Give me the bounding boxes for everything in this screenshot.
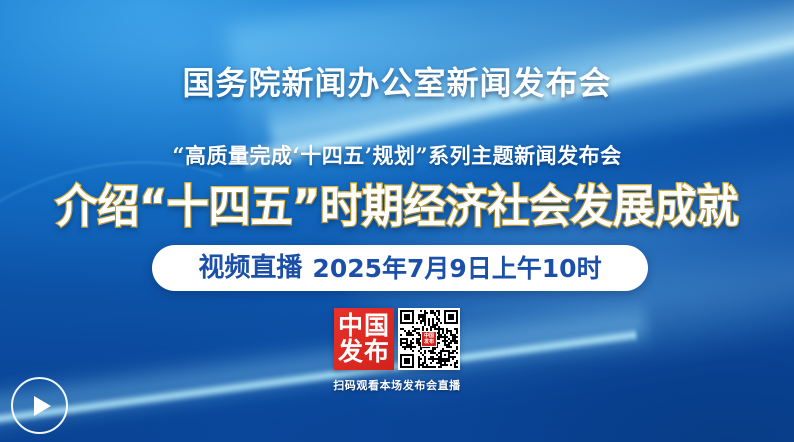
page-title: 国务院新闻办公室新闻发布会 xyxy=(0,58,794,104)
main-title-container: 介绍“十四五”时期经济社会发展成就 xyxy=(0,180,794,236)
brand-logo-line2: 发布 xyxy=(338,339,390,365)
broadcast-time-badge: 视频直播 2025年7月9日上午10时 xyxy=(152,245,648,291)
qr-caption: 扫码观看本场发布会直播 xyxy=(333,377,461,393)
brand-logo-line1: 中国 xyxy=(338,313,390,339)
qr-center-line2: 发布 xyxy=(424,339,434,345)
series-subtitle: “高质量完成‘十四五’规划”系列主题新闻发布会 xyxy=(0,140,794,170)
broadcast-datetime: 2025年7月9日上午10时 xyxy=(312,256,601,281)
qr-row: 中国 发布 中国 发布 xyxy=(334,308,460,370)
qr-center-logo: 中国 发布 xyxy=(421,331,437,347)
qr-code[interactable]: 中国 发布 xyxy=(398,308,460,370)
play-triangle-icon xyxy=(34,396,51,416)
broadcast-label: 视频直播 xyxy=(198,255,302,281)
china-release-logo: 中国 发布 xyxy=(334,308,394,370)
main-title: 介绍“十四五”时期经济社会发展成就 xyxy=(56,180,739,234)
live-broadcast-poster: 国务院新闻办公室新闻发布会 “高质量完成‘十四五’规划”系列主题新闻发布会 介绍… xyxy=(0,0,794,442)
qr-section: 中国 发布 中国 发布 扫码观看本场发布会直播 xyxy=(0,308,794,393)
play-button[interactable] xyxy=(11,377,68,434)
